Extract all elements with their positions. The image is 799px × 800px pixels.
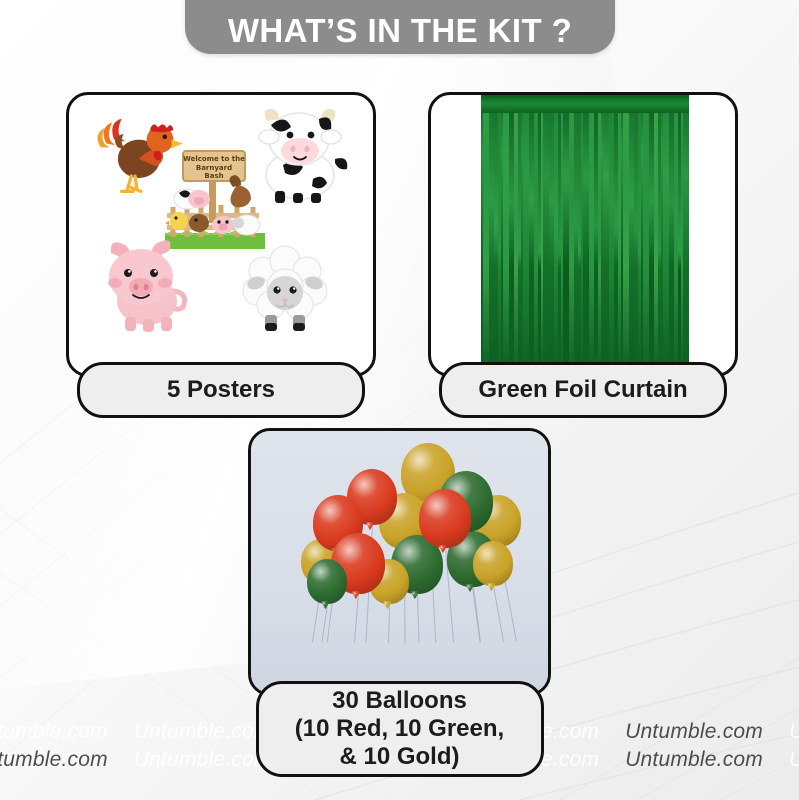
svg-text:Welcome to the: Welcome to the <box>183 155 245 163</box>
kit-item-card-balloons[interactable]: 30 Balloons (10 Red, 10 Green, & 10 Gold… <box>248 428 551 696</box>
watermark-text: Untumble.com <box>0 720 108 744</box>
watermark-text: Untumble.com <box>134 748 272 772</box>
balloon-label-line-3: & 10 Gold) <box>295 743 504 771</box>
watermark-text: Untumble.com <box>625 748 763 772</box>
balloon-string <box>417 594 420 643</box>
watermark-text: Untumble.com <box>789 748 799 772</box>
balloon-label-line-1: 30 Balloons <box>295 687 504 715</box>
watermark-text: Untumble.com <box>625 720 763 744</box>
foil-strips <box>481 95 689 374</box>
watermark-text: Untumble.com <box>0 748 108 772</box>
farm-animal-posters-image: Welcome to the Barnyard Bash <box>69 95 373 374</box>
kit-item-card-posters[interactable]: Welcome to the Barnyard Bash <box>66 92 376 377</box>
watermark-text: Untumble.com <box>789 720 799 744</box>
kit-item-label-curtain: Green Foil Curtain <box>439 362 727 418</box>
kit-item-label-text: Green Foil Curtain <box>478 376 687 404</box>
kit-item-card-curtain[interactable]: Green Foil Curtain <box>428 92 738 377</box>
svg-text:Barnyard: Barnyard <box>196 164 232 172</box>
kit-contents-poster: WHAT’S IN THE KIT ? <box>0 0 799 800</box>
svg-text:Bash: Bash <box>204 172 223 180</box>
kit-item-label-posters: 5 Posters <box>77 362 365 418</box>
green-foil-curtain-image <box>431 95 735 374</box>
balloon-string <box>472 587 481 643</box>
sheep-poster <box>239 243 331 335</box>
balloon-label-line-2: (10 Red, 10 Green, <box>295 715 504 743</box>
balloon-string <box>388 604 390 643</box>
balloon-bunch-image <box>251 431 548 693</box>
balloon <box>473 541 513 586</box>
balloon-string <box>493 586 504 642</box>
foil-strip <box>683 95 689 374</box>
barnyard-sign-poster: Welcome to the Barnyard Bash <box>165 143 265 249</box>
header-banner: WHAT’S IN THE KIT ? <box>185 0 615 54</box>
kit-item-label-text: 5 Posters <box>167 376 275 404</box>
watermark-text: Untumble.com <box>134 720 272 744</box>
foil-curtain-graphic <box>481 95 689 374</box>
balloon-string <box>354 594 359 643</box>
kit-item-label-balloons: 30 Balloons (10 Red, 10 Green, & 10 Gold… <box>256 681 544 777</box>
pig-poster <box>95 235 195 333</box>
balloon <box>307 559 347 604</box>
page-title: WHAT’S IN THE KIT ? <box>228 14 572 47</box>
balloon <box>419 489 471 548</box>
balloon-cluster <box>251 431 548 693</box>
foil-curtain-header-strip <box>481 95 689 113</box>
